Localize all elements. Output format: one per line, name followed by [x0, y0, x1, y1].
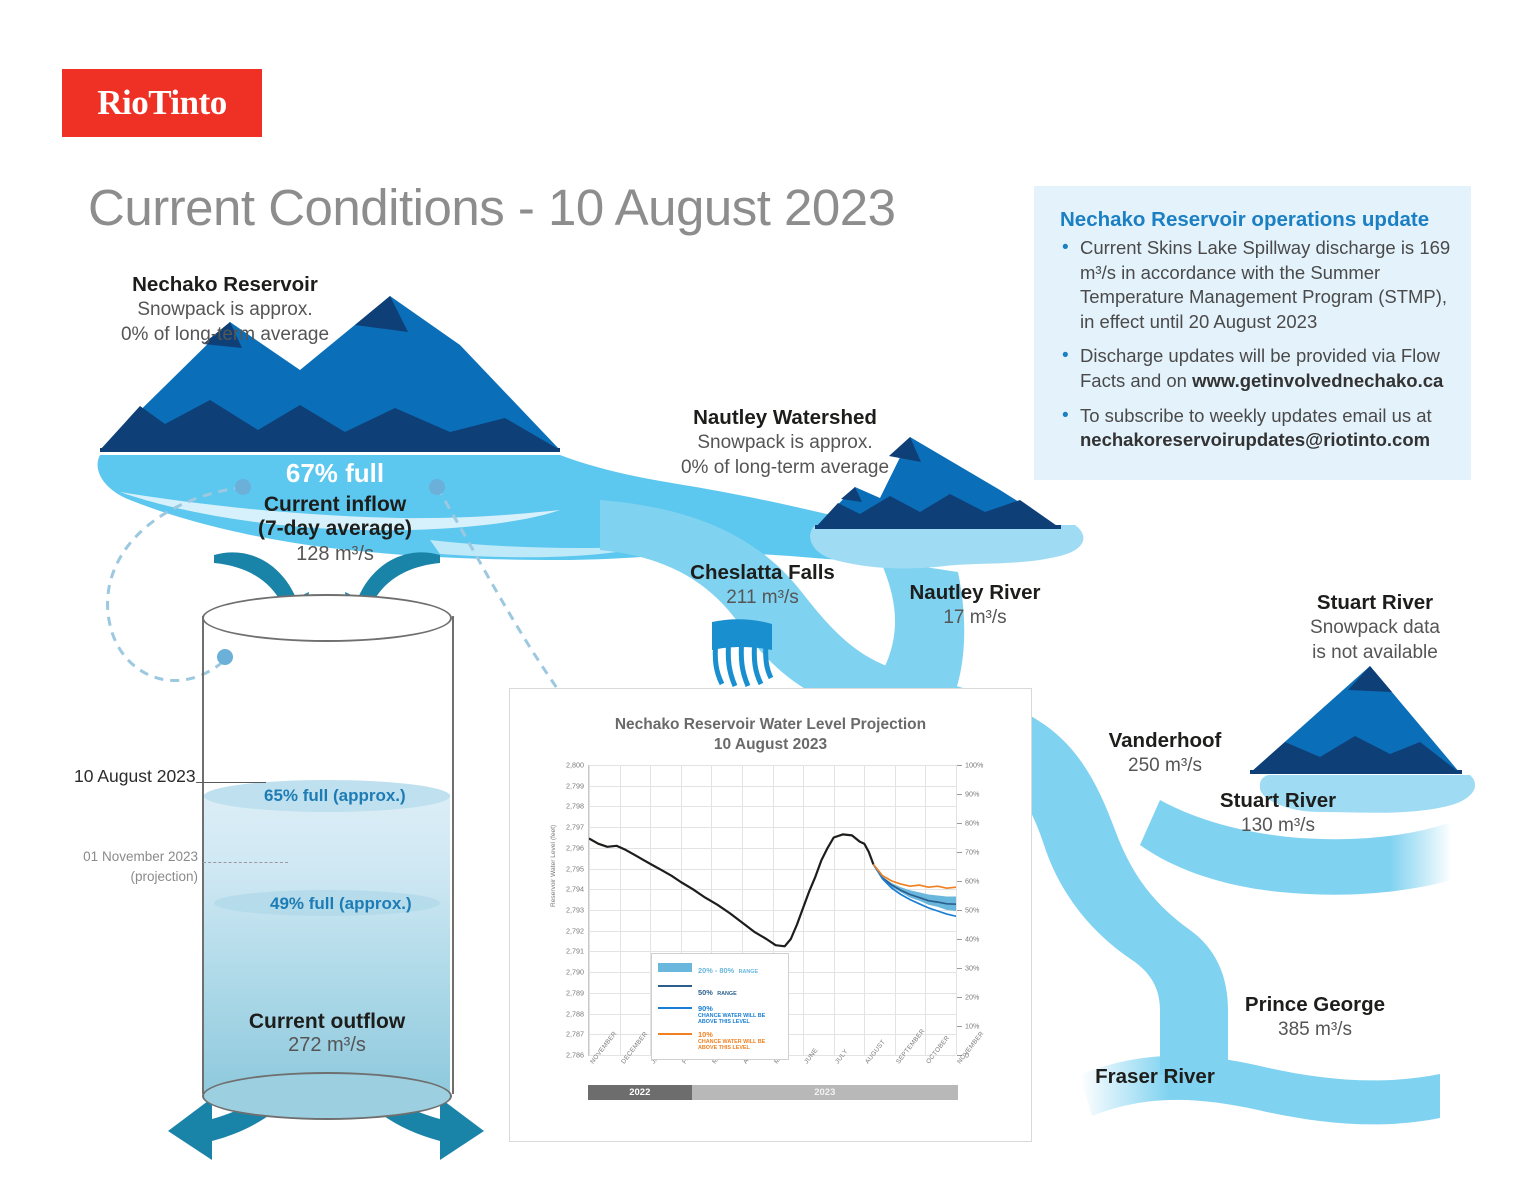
chart-subtitle: 10 August 2023	[510, 735, 1031, 755]
legend-50-name: 50%	[698, 988, 713, 997]
chart-band-20-80	[873, 864, 956, 914]
legend-item-10: 10% CHANCE WATER WILL BE ABOVE THIS LEVE…	[658, 1030, 783, 1052]
reservoir-fill-block: 67% full Current inflow (7-day average) …	[190, 458, 480, 566]
label-nautley-watershed: Nautley Watershed Snowpack is approx. 0%…	[625, 405, 945, 480]
ytick2-label: 20%	[965, 993, 979, 1002]
chart-title-block: Nechako Reservoir Water Level Projection…	[510, 715, 1031, 755]
inflow-value: 128 m³/s	[190, 543, 480, 566]
ytick2-mark	[957, 1026, 962, 1027]
cheslatta-falls-heading: Cheslatta Falls	[650, 560, 875, 586]
legend-swatch-band	[658, 963, 692, 972]
ytick2-label: 30%	[965, 964, 979, 973]
stuart-snowpack-heading: Stuart River	[1255, 590, 1495, 616]
inflow-subheading: (7-day average)	[190, 517, 480, 541]
ytick2-label: 50%	[965, 906, 979, 915]
current-date-leader	[196, 782, 266, 783]
label-stuart-river: Stuart River 130 m³/s	[1168, 788, 1388, 839]
legend-band-name: 20% - 80%	[698, 966, 734, 975]
ytick-label: 2,791	[566, 947, 584, 956]
operations-update-title: Nechako Reservoir operations update	[1060, 208, 1471, 232]
nautley-river-value: 17 m³/s	[865, 606, 1085, 630]
outflow-block: Current outflow 272 m³/s	[202, 1010, 452, 1057]
stuart-snowpack-line1: Snowpack data	[1255, 616, 1495, 640]
chart-legend: 20% - 80% RANGE 50% RANGE 90% CHANCE WAT…	[651, 953, 789, 1060]
operations-update-list: Current Skins Lake Spillway discharge is…	[1034, 236, 1471, 453]
ytick-label: 2,789	[566, 988, 584, 997]
chart-year-bar: 2022 2023	[588, 1085, 958, 1100]
reservoir-cylinder: 65% full (approx.) 49% full (approx.) Cu…	[202, 594, 452, 1114]
prince-george-heading: Prince George	[1200, 992, 1430, 1018]
chart-title: Nechako Reservoir Water Level Projection	[510, 715, 1031, 735]
ops-bullet-3-text: To subscribe to weekly updates email us …	[1080, 405, 1432, 426]
ytick2-label: 80%	[965, 819, 979, 828]
prince-george-value: 385 m³/s	[1200, 1018, 1430, 1042]
legend-10-name: 10%	[698, 1030, 770, 1039]
ytick2-label: 60%	[965, 877, 979, 886]
label-nautley-river: Nautley River 17 m³/s	[865, 580, 1085, 631]
vanderhoof-heading: Vanderhoof	[1055, 728, 1275, 754]
xtick-label: NOVEMBER	[956, 1030, 986, 1065]
ops-bullet-1-text: Current Skins Lake Spillway discharge is…	[1080, 237, 1450, 332]
legend-50-suffix: RANGE	[717, 991, 736, 997]
chart-series-10-chance	[873, 864, 956, 888]
outflow-heading: Current outflow	[202, 1010, 452, 1034]
stuart-snowpack-line2: is not available	[1255, 641, 1495, 665]
label-fraser-river: Fraser River	[1055, 1064, 1255, 1090]
ytick2-mark	[957, 852, 962, 853]
nautley-watershed-line2: 0% of long-term average	[625, 456, 945, 480]
ytick-label: 2,797	[566, 823, 584, 832]
ytick2-mark	[957, 794, 962, 795]
current-date-label: 10 August 2023	[74, 766, 196, 787]
legend-90-suffix: CHANCE WATER WILL BE ABOVE THIS LEVEL	[698, 1013, 770, 1026]
ytick2-mark	[957, 968, 962, 969]
ytick2-label: 70%	[965, 848, 979, 857]
ops-bullet-1: Current Skins Lake Spillway discharge is…	[1060, 236, 1451, 334]
ytick2-label: 40%	[965, 935, 979, 944]
projection-date-leader	[203, 862, 288, 863]
ytick-label: 2,796	[566, 843, 584, 852]
legend-90-name: 90%	[698, 1004, 770, 1013]
cylinder-bottom-ellipse	[202, 1072, 452, 1120]
cylinder-top-ellipse	[202, 594, 452, 642]
ytick-label: 2,792	[566, 926, 584, 935]
ytick-label: 2,793	[566, 906, 584, 915]
current-level-text: 65% full (approx.)	[264, 786, 406, 806]
label-stuart-snowpack: Stuart River Snowpack data is not availa…	[1255, 590, 1495, 665]
legend-item-50: 50% RANGE	[658, 982, 783, 1000]
water-level-projection-chart: Nechako Reservoir Water Level Projection…	[509, 688, 1032, 1142]
ytick2-mark	[957, 823, 962, 824]
stuart-mountain-icon	[1250, 666, 1462, 774]
chart-plot-area: 2,8002,7992,7982,7972,7962,7952,7942,793…	[588, 765, 956, 1056]
year-band-2023: 2023	[692, 1085, 958, 1100]
legend-swatch-10	[658, 1033, 692, 1035]
year-band-2022: 2022	[588, 1085, 692, 1100]
fraser-river-heading: Fraser River	[1055, 1064, 1255, 1090]
legend-swatch-90	[658, 1007, 692, 1009]
subscribe-email-link[interactable]: nechakoreservoirupdates@riotinto.com	[1080, 429, 1430, 450]
legend-item-90: 90% CHANCE WATER WILL BE ABOVE THIS LEVE…	[658, 1004, 783, 1026]
ytick-label: 2,794	[566, 885, 584, 894]
ops-bullet-2: Discharge updates will be provided via F…	[1060, 344, 1451, 393]
percent-full-text: 67% full	[190, 458, 480, 489]
projected-level-text: 49% full (approx.)	[270, 894, 412, 914]
inflow-heading: Current inflow	[190, 493, 480, 517]
ytick2-label: 90%	[965, 790, 979, 799]
legend-band-suffix: RANGE	[739, 969, 758, 975]
ytick2-mark	[957, 997, 962, 998]
vanderhoof-value: 250 m³/s	[1055, 754, 1275, 778]
nechako-reservoir-line2: 0% of long-term average	[60, 323, 390, 347]
cheslatta-falls-value: 211 m³/s	[650, 586, 875, 610]
ytick-label: 2,790	[566, 968, 584, 977]
nautley-watershed-heading: Nautley Watershed	[625, 405, 945, 431]
ytick2-mark	[957, 765, 962, 766]
ytick-label: 2,798	[566, 802, 584, 811]
nautley-river-heading: Nautley River	[865, 580, 1085, 606]
getinvolved-link[interactable]: www.getinvolvednechako.ca	[1192, 370, 1443, 391]
ytick-label: 2,787	[566, 1030, 584, 1039]
nautley-watershed-line1: Snowpack is approx.	[625, 431, 945, 455]
ytick-label: 2,799	[566, 781, 584, 790]
ytick2-mark	[957, 939, 962, 940]
chart-yaxis-title: Reservoir Water Level (feet)	[550, 825, 557, 907]
operations-update-panel: Nechako Reservoir operations update Curr…	[1034, 186, 1471, 480]
stuart-river-heading: Stuart River	[1168, 788, 1388, 814]
ytick-label: 2,795	[566, 864, 584, 873]
outflow-value: 272 m³/s	[202, 1034, 452, 1057]
ops-bullet-3: To subscribe to weekly updates email us …	[1060, 404, 1451, 453]
ytick2-label: 10%	[965, 1022, 979, 1031]
ytick2-mark	[957, 881, 962, 882]
label-vanderhoof: Vanderhoof 250 m³/s	[1055, 728, 1275, 779]
legend-10-suffix: CHANCE WATER WILL BE ABOVE THIS LEVEL	[698, 1039, 770, 1052]
chart-series-observed	[589, 834, 873, 946]
label-cheslatta-falls: Cheslatta Falls 211 m³/s	[650, 560, 875, 611]
stuart-river-value: 130 m³/s	[1168, 814, 1388, 838]
legend-swatch-50	[658, 985, 692, 987]
ytick2-mark	[957, 910, 962, 911]
label-nechako-reservoir: Nechako Reservoir Snowpack is approx. 0%…	[60, 272, 390, 347]
projection-date-sub: (projection)	[80, 869, 198, 886]
nechako-reservoir-heading: Nechako Reservoir	[60, 272, 390, 298]
ytick-label: 2,786	[566, 1051, 584, 1060]
ytick-label: 2,800	[566, 761, 584, 770]
ytick-label: 2,788	[566, 1009, 584, 1018]
label-prince-george: Prince George 385 m³/s	[1200, 992, 1430, 1043]
ytick2-label: 100%	[965, 761, 983, 770]
nechako-reservoir-line1: Snowpack is approx.	[60, 298, 390, 322]
projection-date-label: 01 November 2023	[80, 849, 198, 866]
legend-item-band: 20% - 80% RANGE	[658, 960, 783, 978]
